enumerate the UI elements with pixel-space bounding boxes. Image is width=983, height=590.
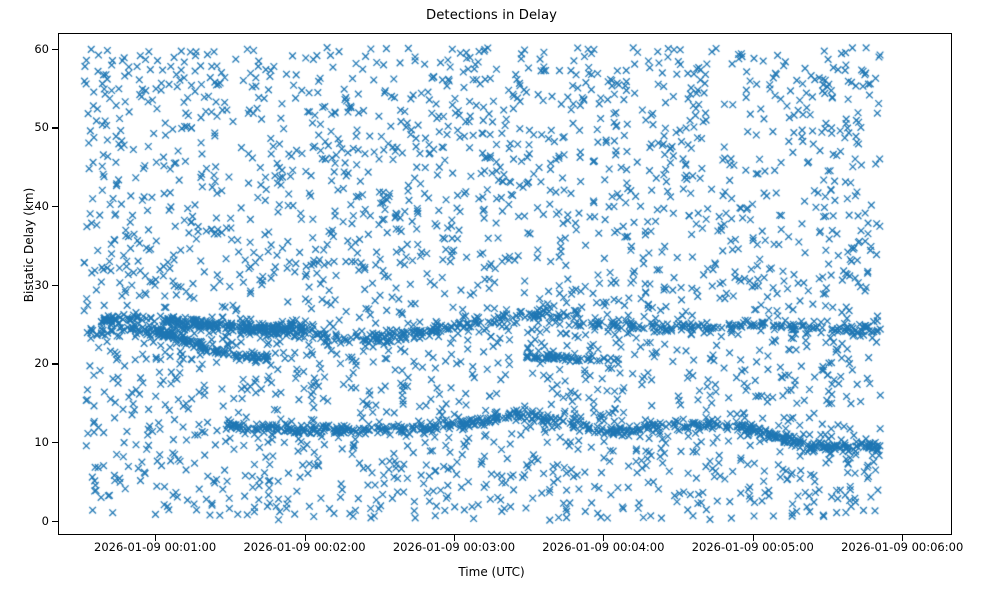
x-tick-label: 2026-01-09 00:03:00 (393, 540, 515, 554)
y-tick-mark (52, 49, 59, 50)
y-tick-label: 20 (34, 356, 49, 370)
y-tick-mark (52, 206, 59, 207)
y-tick-mark (52, 521, 59, 522)
scatter-plot-canvas (59, 34, 952, 535)
y-tick-mark (52, 127, 59, 128)
plot-axes (58, 33, 952, 535)
y-tick-mark (52, 285, 59, 286)
x-tick-mark (902, 534, 903, 541)
x-tick-label: 2026-01-09 00:05:00 (692, 540, 814, 554)
x-tick-label: 2026-01-09 00:04:00 (542, 540, 664, 554)
x-tick-label: 2026-01-09 00:06:00 (841, 540, 963, 554)
y-tick-label: 0 (42, 514, 49, 528)
x-tick-label: 2026-01-09 00:01:00 (94, 540, 216, 554)
x-axis-label: Time (UTC) (0, 565, 983, 579)
y-tick-label: 40 (34, 199, 49, 213)
x-tick-mark (603, 534, 604, 541)
y-axis-label: Bistatic Delay (km) (22, 90, 36, 400)
y-tick-mark (52, 442, 59, 443)
x-tick-mark (305, 534, 306, 541)
y-tick-label: 60 (34, 42, 49, 56)
y-tick-label: 30 (34, 278, 49, 292)
page-title: Detections in Delay (0, 8, 983, 23)
y-tick-label: 50 (34, 120, 49, 134)
matplotlib-figure: Detections in Delay 0102030405060 2026-0… (0, 0, 983, 590)
x-tick-mark (155, 534, 156, 541)
x-tick-mark (454, 534, 455, 541)
x-tick-mark (753, 534, 754, 541)
y-tick-label: 10 (34, 435, 49, 449)
y-tick-mark (52, 363, 59, 364)
x-tick-label: 2026-01-09 00:02:00 (243, 540, 365, 554)
